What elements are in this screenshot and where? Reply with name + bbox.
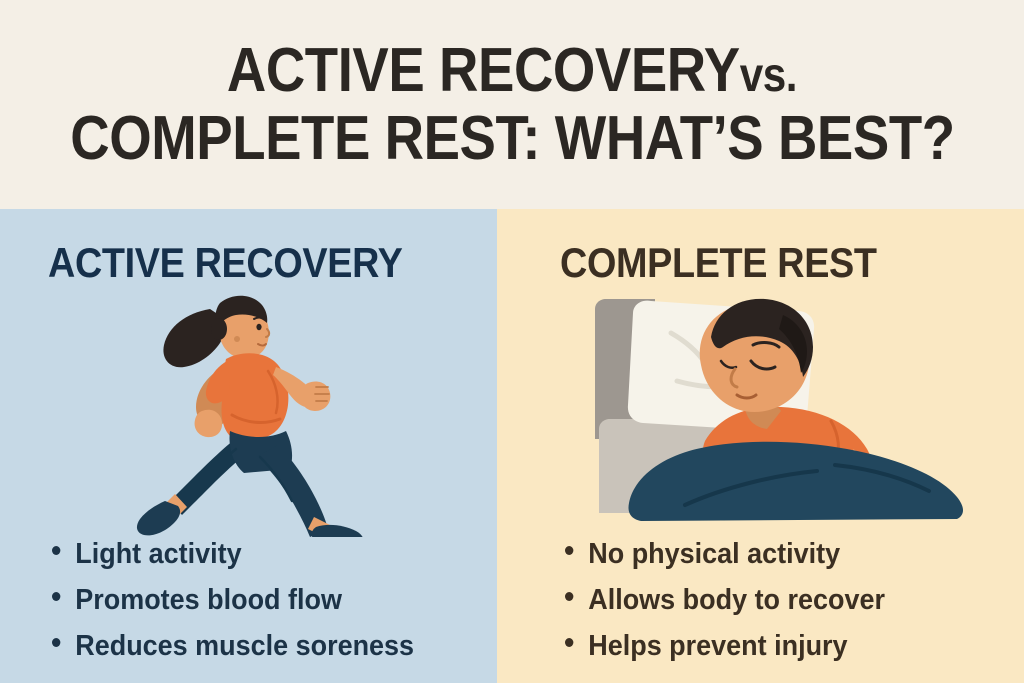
list-item: Allows body to recover xyxy=(565,586,885,615)
list-item-label: Helps prevent injury xyxy=(588,632,847,661)
page-title-vs-text: vs. xyxy=(740,49,797,102)
panel-complete-rest: COMPLETE REST xyxy=(497,209,1024,683)
panel-heading-complete-rest: COMPLETE REST xyxy=(560,239,877,287)
bullet-dot-icon xyxy=(52,638,60,647)
list-item: No physical activity xyxy=(565,540,885,569)
page-title-line-2: COMPLETE REST: WHAT’S BEST? xyxy=(70,108,954,169)
benefits-list-complete-rest: No physical activity Allows body to reco… xyxy=(565,540,909,661)
page-title-line-1: ACTIVE RECOVERYvs. xyxy=(227,40,797,101)
list-item: Light activity xyxy=(52,540,414,569)
panel-active-recovery: ACTIVE RECOVERY xyxy=(0,209,497,683)
list-item-label: Allows body to recover xyxy=(588,586,885,615)
running-woman-icon xyxy=(120,287,380,537)
benefits-list-active-recovery: Light activity Promotes blood flow Reduc… xyxy=(52,540,441,661)
sleeping-man-icon xyxy=(585,289,975,529)
list-item-label: Promotes blood flow xyxy=(75,586,342,615)
list-item-label: No physical activity xyxy=(588,540,840,569)
list-item: Promotes blood flow xyxy=(52,586,414,615)
infographic-root: ACTIVE RECOVERYvs. COMPLETE REST: WHAT’S… xyxy=(0,0,1024,683)
header-banner: ACTIVE RECOVERYvs. COMPLETE REST: WHAT’S… xyxy=(0,0,1024,209)
list-item-label: Light activity xyxy=(75,540,241,569)
panel-heading-active-recovery: ACTIVE RECOVERY xyxy=(48,239,402,287)
bullet-dot-icon xyxy=(565,546,573,555)
bullet-dot-icon xyxy=(565,638,573,647)
comparison-panels: ACTIVE RECOVERY xyxy=(0,209,1024,683)
list-item: Reduces muscle soreness xyxy=(52,632,414,661)
bullet-dot-icon xyxy=(52,546,60,555)
bullet-dot-icon xyxy=(52,592,60,601)
list-item-label: Reduces muscle soreness xyxy=(75,632,414,661)
page-title-main-text: ACTIVE RECOVERY xyxy=(227,36,740,105)
bullet-dot-icon xyxy=(565,592,573,601)
list-item: Helps prevent injury xyxy=(565,632,885,661)
